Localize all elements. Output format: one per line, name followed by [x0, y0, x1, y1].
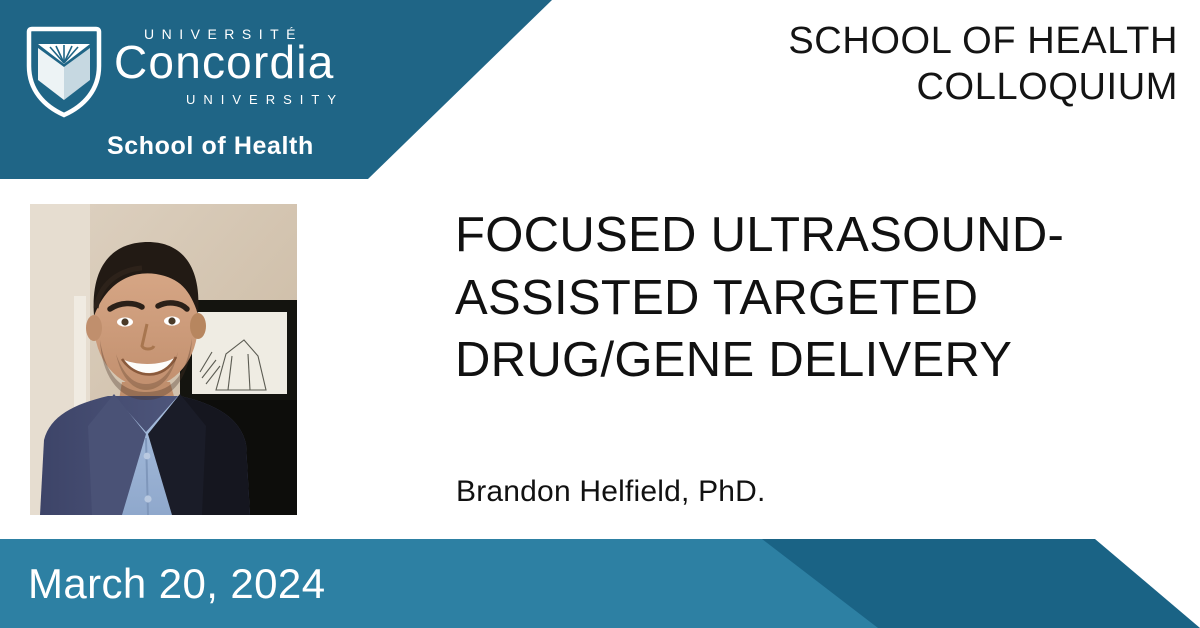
speaker-photo — [30, 204, 297, 515]
logo-concordia-text: Concordia — [114, 39, 334, 85]
talk-title-line-2: ASSISTED TARGETED — [455, 267, 1155, 330]
concordia-shield-icon — [26, 22, 102, 118]
event-title-line-2: COLLOQUIUM — [618, 64, 1178, 110]
talk-title: FOCUSED ULTRASOUND- ASSISTED TARGETED DR… — [455, 204, 1155, 392]
talk-title-line-1: FOCUSED ULTRASOUND- — [455, 204, 1155, 267]
logo-faculty-text: School of Health — [107, 132, 314, 161]
talk-title-line-3: DRUG/GENE DELIVERY — [455, 329, 1155, 392]
logo-university-text: UNIVERSITY — [186, 92, 344, 107]
concordia-wordmark: UNIVERSITÉ Concordia UNIVERSITY — [114, 22, 374, 118]
event-date: March 20, 2024 — [28, 560, 325, 608]
colloquium-poster: UNIVERSITÉ Concordia UNIVERSITY School o… — [0, 0, 1200, 628]
speaker-name: Brandon Helfield, PhD. — [456, 475, 766, 509]
event-title-line-1: SCHOOL OF HEALTH — [618, 18, 1178, 64]
concordia-logo: UNIVERSITÉ Concordia UNIVERSITY — [26, 22, 376, 122]
event-title: SCHOOL OF HEALTH COLLOQUIUM — [618, 18, 1178, 111]
